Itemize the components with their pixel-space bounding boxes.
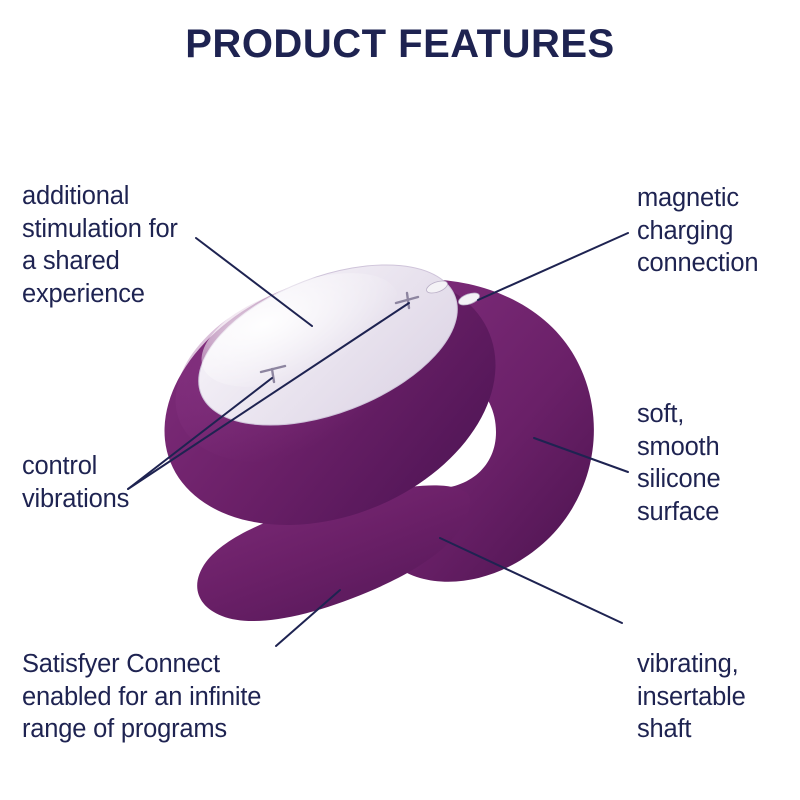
product-features-diagram: PRODUCT FEATURES [0, 0, 800, 800]
product-part-button-minus [261, 366, 285, 382]
page-title: PRODUCT FEATURES [0, 22, 800, 66]
callout-magnetic-charging: magnetic charging connection [637, 182, 800, 280]
product-part-right-lobe [377, 279, 593, 581]
callout-control-vibrations: control vibrations [22, 450, 252, 515]
callout-additional-stimulation: additional stimulation for a shared expe… [22, 180, 282, 311]
leader-line-soft-silicone [534, 438, 628, 472]
leader-line-satisfyer-connect [276, 590, 340, 646]
product-part-button-plus [396, 293, 418, 308]
callout-soft-silicone: soft, smooth silicone surface [637, 398, 800, 529]
leader-line-vibrating-shaft [440, 538, 622, 623]
leader-line-magnetic-charging [478, 233, 628, 300]
product-part-charging-contact-lower [457, 291, 481, 308]
callout-satisfyer-connect: Satisfyer Connect enabled for an infinit… [22, 648, 362, 746]
callout-vibrating-shaft: vibrating, insertable shaft [637, 648, 800, 746]
product-part-charging-contact-upper [425, 279, 449, 296]
